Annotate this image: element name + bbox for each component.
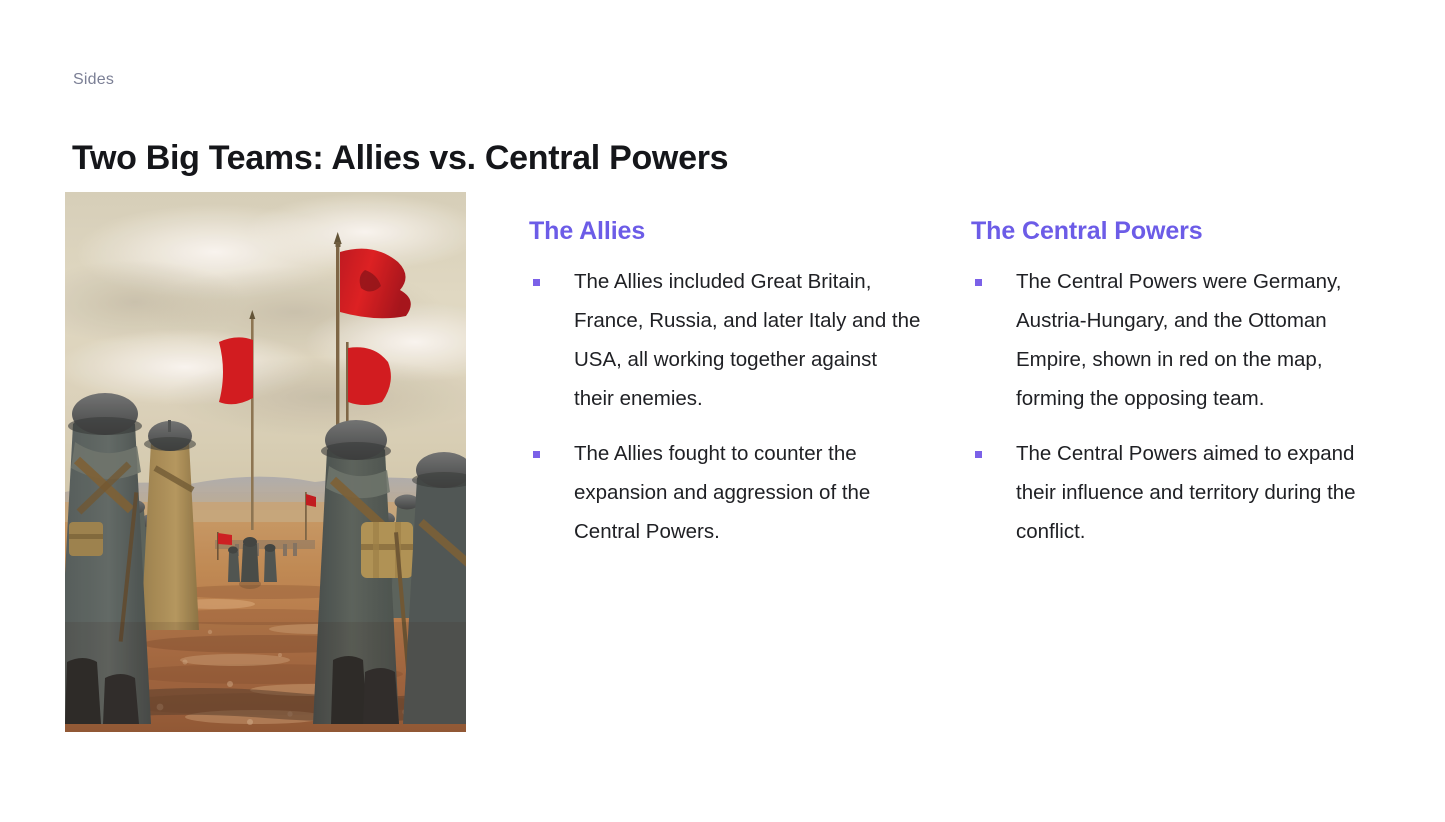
- list-item: The Central Powers were Germany, Austria…: [971, 262, 1371, 418]
- bullet-square-icon: [533, 451, 540, 458]
- bullet-square-icon: [975, 279, 982, 286]
- bullet-square-icon: [975, 451, 982, 458]
- list-item-text: The Central Powers were Germany, Austria…: [1016, 270, 1341, 410]
- column-heading-allies: The Allies: [529, 214, 921, 248]
- slide-eyebrow-label: Sides: [73, 69, 114, 91]
- bullet-square-icon: [533, 279, 540, 286]
- slide-canvas: Sides Two Big Teams: Allies vs. Central …: [0, 0, 1445, 822]
- column-allies: The Allies The Allies included Great Bri…: [529, 214, 921, 551]
- list-item: The Allies fought to counter the expansi…: [529, 434, 921, 551]
- list-item: The Central Powers aimed to expand their…: [971, 434, 1371, 551]
- list-item-text: The Central Powers aimed to expand their…: [1016, 442, 1356, 543]
- wwi-soldiers-illustration: [65, 192, 466, 732]
- list-item-text: The Allies fought to counter the expansi…: [574, 442, 870, 543]
- list-item: The Allies included Great Britain, Franc…: [529, 262, 921, 418]
- page-title: Two Big Teams: Allies vs. Central Powers: [72, 136, 728, 180]
- column-central-powers: The Central Powers The Central Powers we…: [971, 214, 1371, 551]
- slide-image: [65, 192, 466, 732]
- column-heading-central-powers: The Central Powers: [971, 214, 1371, 248]
- list-item-text: The Allies included Great Britain, Franc…: [574, 270, 920, 410]
- bullet-list-allies: The Allies included Great Britain, Franc…: [529, 262, 921, 551]
- bullet-list-central-powers: The Central Powers were Germany, Austria…: [971, 262, 1371, 551]
